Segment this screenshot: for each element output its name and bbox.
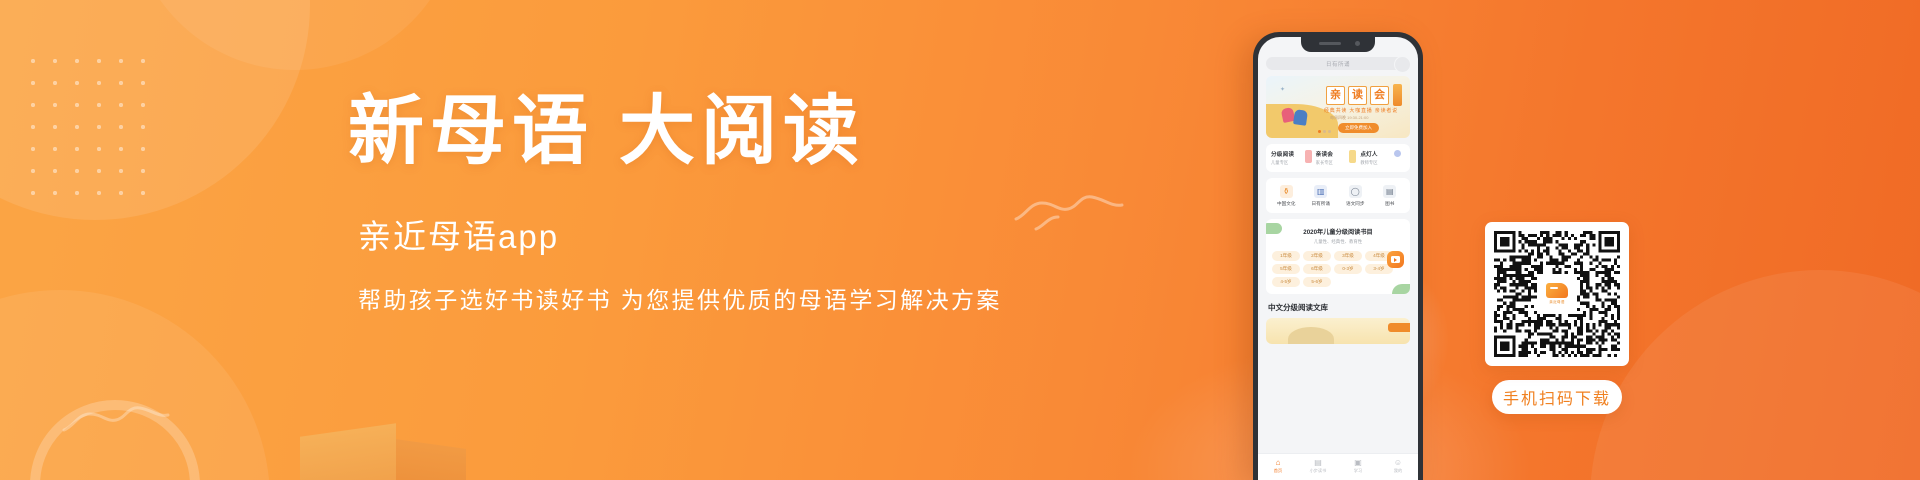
decorative-circle-bottom-right <box>1590 270 1920 480</box>
user-icon: ☺ <box>1378 458 1418 467</box>
app-category-card: 分级阅读 儿童专区 亲读会 家长专区 点灯人 教师专区 <box>1266 144 1410 172</box>
cloud-ornament-small-icon <box>60 390 170 450</box>
app-category-row: 分级阅读 儿童专区 亲读会 家长专区 点灯人 教师专区 <box>1266 144 1410 172</box>
app-search-avatar-icon[interactable] <box>1394 56 1411 73</box>
tab-home[interactable]: ⌂ 首页 <box>1258 454 1298 480</box>
banner-headline: 新母语 大阅读 <box>348 94 1048 170</box>
grade-tag[interactable]: 6年级 <box>1303 264 1331 274</box>
quicklink-chinese-culture[interactable]: ⚱ 中国文化 <box>1269 185 1304 207</box>
hero-bookmark-icon <box>1393 84 1402 106</box>
hero-cta-button[interactable]: 立即免费加入 <box>1338 123 1379 133</box>
tab-study[interactable]: ▣ 学习 <box>1338 454 1378 480</box>
hero-child-figure-2 <box>1293 109 1308 126</box>
quicklink-books[interactable]: ▤ 图书 <box>1373 185 1408 207</box>
grade-tag[interactable]: 5-6岁 <box>1303 277 1331 287</box>
app-tab-bar: ⌂ 首页 ▤ 小步读书 ▣ 学习 ☺ 我的 <box>1258 453 1418 480</box>
tab-label: 首页 <box>1258 468 1298 474</box>
app-quicklinks-card: ⚱ 中国文化 ▥ 日有所诵 ◯ 语文同步 ▤ 图书 <box>1266 178 1410 213</box>
hero-meta: 每周四晚 19:30-21:00 <box>1330 115 1368 121</box>
decorative-cube <box>300 423 396 480</box>
library-pencil-icon <box>1388 323 1410 332</box>
list-icon: ▤ <box>1383 185 1396 198</box>
decorative-circle-top-left-2 <box>130 0 460 70</box>
library-illustration <box>1288 327 1334 344</box>
banner-copy: 新母语 大阅读 亲近母语app 帮助孩子选好书读好书 为您提供优质的母语学习解决… <box>348 94 1048 312</box>
hero-birds-icon: ✦ <box>1280 86 1285 93</box>
library-card[interactable] <box>1266 318 1410 344</box>
tab-label: 小步读书 <box>1298 468 1338 474</box>
hero-carousel-dots[interactable] <box>1318 130 1331 133</box>
promo-banner: 新母语 大阅读 亲近母语app 帮助孩子选好书读好书 为您提供优质的母语学习解决… <box>0 0 1920 480</box>
decorative-arc <box>30 400 200 480</box>
phone-screen: 日有所诵 ✦ 亲 读 会 经典共读 大咖直播 亲读者说 每周四晚 19:30-2… <box>1258 37 1418 480</box>
app-search-placeholder: 日有所诵 <box>1326 60 1350 68</box>
quicklink-label: 中国文化 <box>1269 201 1304 207</box>
book-icon: ▤ <box>1298 458 1338 467</box>
play-video-button[interactable] <box>1387 251 1404 268</box>
category-item-parent-club[interactable]: 亲读会 家长专区 <box>1316 150 1361 166</box>
hero-title-char-1: 亲 <box>1326 86 1345 105</box>
download-button[interactable]: 手机扫码下载 <box>1492 380 1622 414</box>
phone-notch <box>1301 37 1375 52</box>
app-search-input[interactable]: 日有所诵 <box>1266 57 1410 70</box>
refresh-icon: ◯ <box>1349 185 1362 198</box>
lantern-icon: ⚱ <box>1280 185 1293 198</box>
app-hero-banner[interactable]: ✦ 亲 读 会 经典共读 大咖直播 亲读者说 每周四晚 19:30-21:00 … <box>1266 76 1410 138</box>
grade-tag[interactable]: 2年级 <box>1303 251 1331 261</box>
category-ribbon-icon <box>1394 150 1401 157</box>
category-desc: 教师专区 <box>1360 160 1405 166</box>
category-item-teacher[interactable]: 点灯人 教师专区 <box>1360 150 1405 166</box>
qr-center-logo: 亲近母语 <box>1540 277 1574 311</box>
decorative-circle-top-left <box>0 0 310 220</box>
qr-code-card[interactable]: 亲近母语 <box>1485 222 1629 366</box>
grade-tag[interactable]: 3年级 <box>1334 251 1362 261</box>
hero-title: 亲 读 会 <box>1326 86 1389 105</box>
category-ribbon-icon <box>1305 150 1312 163</box>
banner-tagline: 帮助孩子选好书读好书 为您提供优质的母语学习解决方案 <box>358 289 1048 312</box>
banner-subtitle: 亲近母语app <box>358 220 1048 253</box>
category-ribbon-icon <box>1349 150 1356 163</box>
grade-tag[interactable]: 0-3岁 <box>1334 264 1362 274</box>
quicklink-daily-recitation[interactable]: ▥ 日有所诵 <box>1304 185 1339 207</box>
app-quicklinks-row: ⚱ 中国文化 ▥ 日有所诵 ◯ 语文同步 ▤ 图书 <box>1266 178 1410 213</box>
grade-tag[interactable]: 1年级 <box>1272 251 1300 261</box>
booklist-subtitle: 儿童性、经典性、教育性 <box>1272 239 1404 245</box>
category-item-graded-reading[interactable]: 分级阅读 儿童专区 <box>1271 150 1316 166</box>
phone-mockup: 日有所诵 ✦ 亲 读 会 经典共读 大咖直播 亲读者说 每周四晚 19:30-2… <box>1253 32 1423 480</box>
grade-tag[interactable]: 5年级 <box>1272 264 1300 274</box>
quicklink-sync-reading[interactable]: ◯ 语文同步 <box>1338 185 1373 207</box>
leaf-ornament-icon <box>1266 223 1282 234</box>
booklist-title: 2020年儿童分级阅读书目 <box>1272 227 1404 236</box>
quicklink-label: 语文同步 <box>1338 201 1373 207</box>
tab-label: 我的 <box>1378 468 1418 474</box>
qr-logo-text: 亲近母语 <box>1549 300 1565 305</box>
tab-reading[interactable]: ▤ 小步读书 <box>1298 454 1338 480</box>
grade-tag[interactable]: 4-5岁 <box>1272 277 1300 287</box>
decorative-dot-grid <box>22 50 162 210</box>
download-button-label: 手机扫码下载 <box>1503 385 1611 409</box>
book-icon: ▥ <box>1314 185 1327 198</box>
leaf-ornament-icon-2 <box>1392 284 1410 294</box>
hero-subtitle: 经典共读 大咖直播 亲读者说 <box>1324 107 1398 114</box>
home-icon: ⌂ <box>1258 458 1298 467</box>
brand-mark-icon <box>1546 283 1568 298</box>
tab-label: 学习 <box>1338 468 1378 474</box>
quicklink-label: 图书 <box>1373 201 1408 207</box>
qr-download-block: 亲近母语 手机扫码下载 <box>1485 222 1629 414</box>
quicklink-label: 日有所诵 <box>1304 201 1339 207</box>
decorative-circle-bottom-left <box>0 290 270 480</box>
hero-title-char-3: 会 <box>1370 86 1389 105</box>
app-booklist-card[interactable]: 2020年儿童分级阅读书目 儿童性、经典性、教育性 1年级 2年级 3年级 4年… <box>1266 219 1410 294</box>
tab-profile[interactable]: ☺ 我的 <box>1378 454 1418 480</box>
decorative-cube-2 <box>396 439 466 480</box>
library-section-title: 中文分级阅读文库 <box>1268 302 1408 313</box>
booklist-grade-tags: 1年级 2年级 3年级 4年级 5年级 6年级 0-3岁 3-4岁 4-5岁 5… <box>1272 251 1404 287</box>
hero-title-char-2: 读 <box>1348 86 1367 105</box>
clipboard-icon: ▣ <box>1338 458 1378 467</box>
